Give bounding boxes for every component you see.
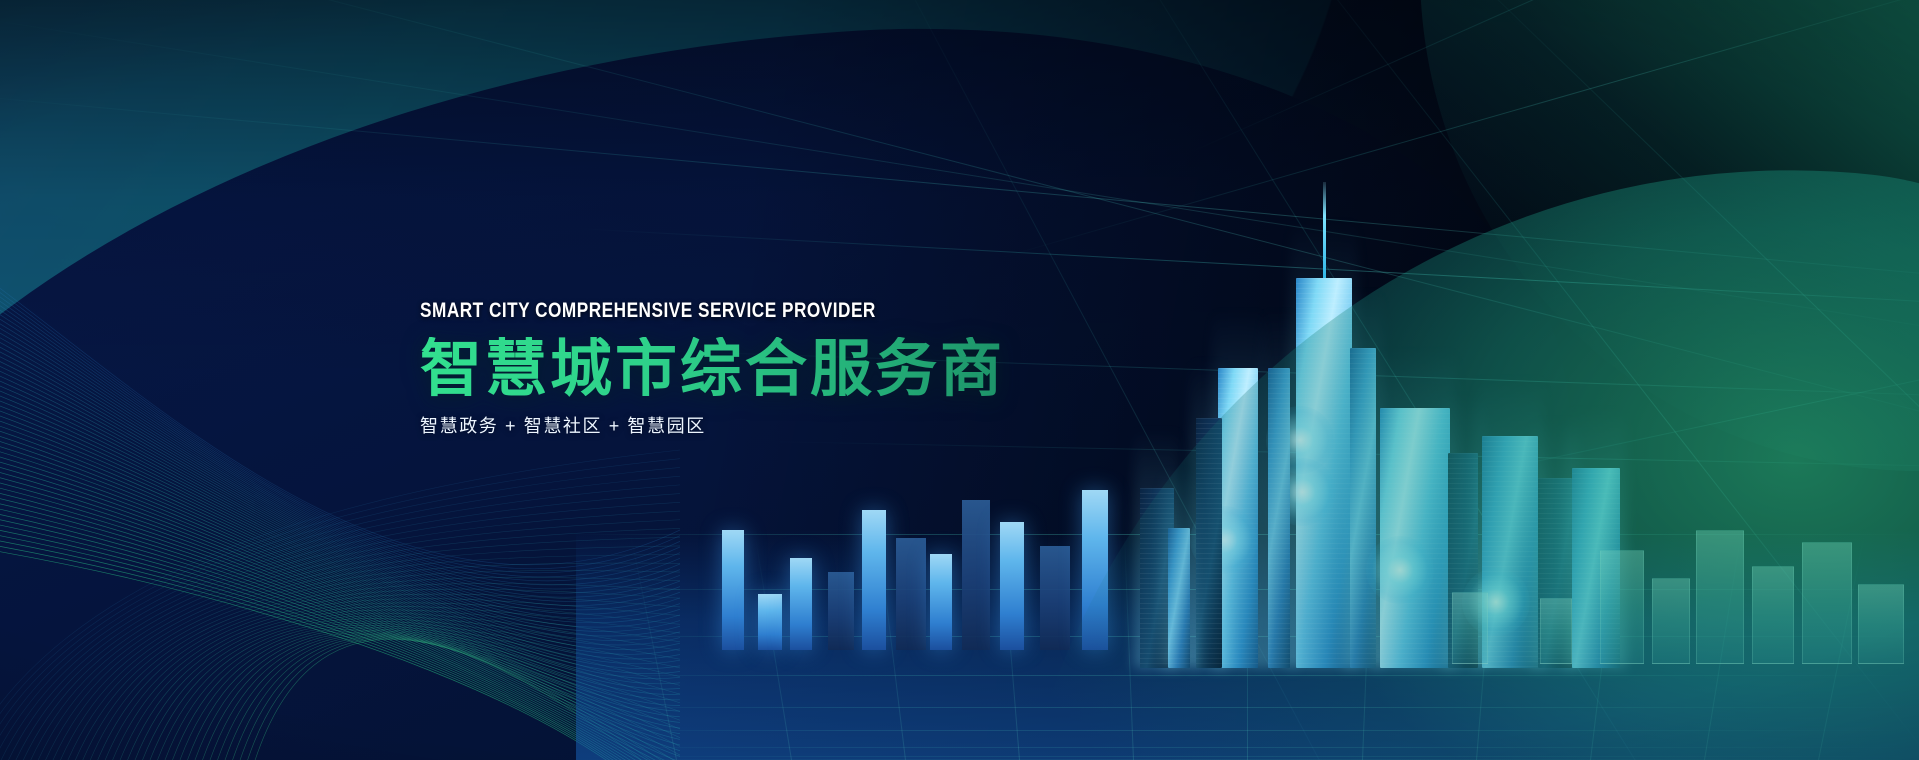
banner-headline: 智慧城市综合服务商 <box>420 337 1180 403</box>
banner-eyebrow-text: SMART CITY COMPREHENSIVE SERVICE PROVIDE… <box>420 300 1043 321</box>
smart-city-hero-banner: SMART CITY COMPREHENSIVE SERVICE PROVIDE… <box>0 0 1919 760</box>
banner-subline: 智慧政务 + 智慧社区 + 智慧园区 <box>420 417 1180 435</box>
banner-copy-block: SMART CITY COMPREHENSIVE SERVICE PROVIDE… <box>420 300 1180 435</box>
